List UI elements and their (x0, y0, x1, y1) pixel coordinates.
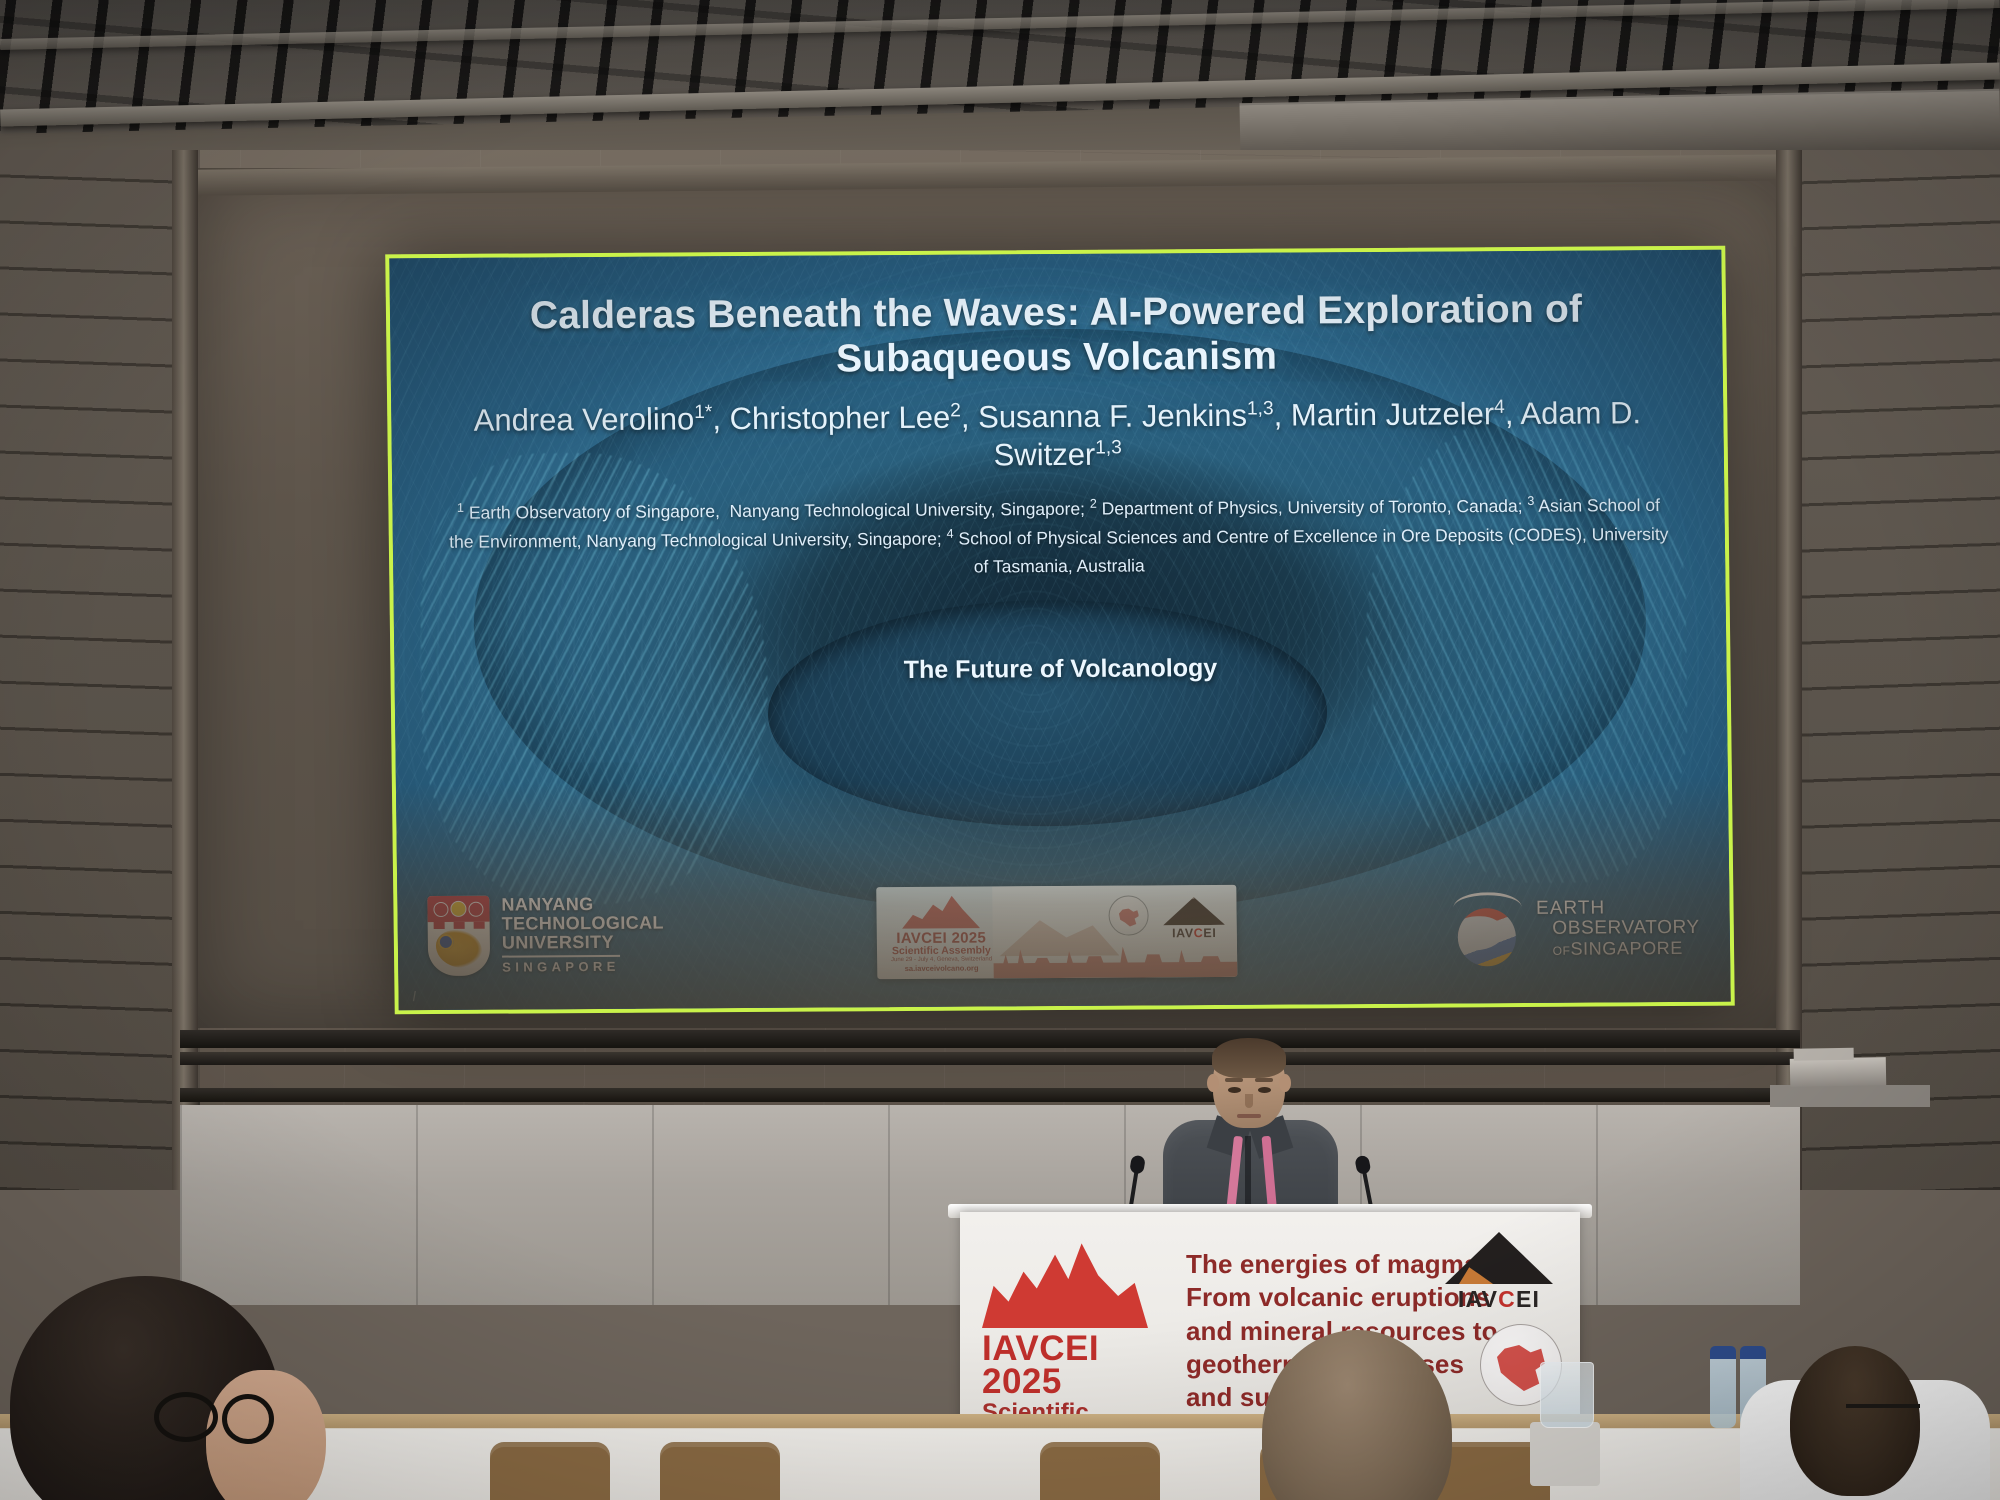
lectern-badge-left: IAV (1458, 1286, 1498, 1312)
presenter-brow-left (1225, 1078, 1243, 1082)
presenter-mouth (1237, 1114, 1261, 1118)
slide-corner-mark: l (412, 988, 415, 1004)
crest-atom-icon-right (468, 902, 483, 917)
volcano-icon-lectern (982, 1234, 1148, 1328)
iavcei-banner-logo: IAVCEI IAVCEI 2025 Scientific Assembly J… (877, 885, 1238, 979)
lectern-logo-title: IAVCEI 2025 (982, 1332, 1172, 1399)
stage-rail-2 (180, 1052, 1800, 1065)
slide-authors: Andrea Verolino1*, Christopher Lee2, Sus… (433, 394, 1682, 478)
eos-circle (1457, 908, 1516, 966)
volcano-icon-badge (1445, 1232, 1553, 1284)
water-glass (1540, 1362, 1594, 1428)
glasses-lens-left (154, 1392, 218, 1442)
iavcei-banner-url: sa.iavceivolcano.org (886, 964, 998, 974)
globe-icon (1109, 895, 1150, 935)
side-table (1770, 1085, 1930, 1107)
right-wall-panels (1800, 150, 2000, 1190)
ntu-line-2: TECHNOLOGICAL (502, 913, 664, 933)
iavcei-badge-right: EI (1203, 926, 1216, 940)
chair-1 (490, 1442, 610, 1500)
ntu-logo: NANYANG TECHNOLOGICAL UNIVERSITY SINGAPO… (427, 894, 664, 976)
lectern-badge-right: EI (1516, 1286, 1540, 1312)
presenter-ear-right (1279, 1074, 1291, 1092)
eos-wordmark: EARTH OBSERVATORY OFSINGAPORE (1536, 898, 1700, 960)
lectern-badge-text: IAVCEI (1434, 1286, 1564, 1313)
ntu-crest-icon (427, 896, 490, 976)
iavcei-banner-subtitle: Scientific Assembly (885, 945, 997, 957)
volcano-icon-banner (902, 892, 980, 929)
presenter-eye-right (1258, 1087, 1271, 1093)
ntu-line-4: SINGAPORE (502, 955, 620, 975)
left-wall-panels (0, 150, 200, 1190)
eos-singapore: SINGAPORE (1570, 938, 1683, 959)
waste-bin (1530, 1422, 1600, 1486)
iavcei-badge-left: IAV (1172, 926, 1194, 940)
ntu-line-3: UNIVERSITY (502, 933, 664, 953)
iavcei-badge: IAVCEI (1163, 897, 1226, 940)
audience-person-right-glasses-icon (1846, 1404, 1920, 1434)
crest-atom-icon-left (433, 902, 448, 917)
presenter-brow-right (1255, 1078, 1273, 1082)
volcano-icon (1163, 897, 1225, 925)
iavcei-badge-accent: C (1194, 926, 1204, 940)
slide-affiliations: 1 Earth Observatory of Singapore, Nanyan… (434, 490, 1683, 585)
lectern-badge-accent: C (1498, 1286, 1516, 1312)
crest-notch-1 (434, 922, 445, 929)
crest-lion-icon (436, 930, 482, 968)
slide-session-title: The Future of Volcanology (436, 651, 1684, 688)
crest-notch-3 (474, 922, 485, 929)
presenter-nose (1245, 1094, 1253, 1108)
stage-rail-1 (180, 1030, 1800, 1048)
ceiling (0, 0, 2000, 175)
iavcei-banner-left: IAVCEI 2025 Scientific Assembly June 29 … (877, 892, 998, 974)
presentation-photo-scene: Calderas Beneath the Waves: AI-Powered E… (0, 0, 2000, 1500)
iavcei-banner-mountain (999, 910, 1120, 957)
laptop (1790, 1057, 1886, 1087)
iavcei-badge-text: IAVCEI (1163, 926, 1225, 940)
chair-3 (1040, 1442, 1160, 1500)
eos-of: OF (1553, 944, 1571, 958)
presenter-eye-left (1228, 1087, 1241, 1093)
eos-line-2: OBSERVATORY (1536, 918, 1700, 940)
presenter-ear-left (1207, 1074, 1219, 1092)
glasses-lens-right (222, 1394, 274, 1444)
ntu-wordmark: NANYANG TECHNOLOGICAL UNIVERSITY SINGAPO… (501, 894, 664, 975)
iavcei-banner-title: IAVCEI 2025 (885, 930, 997, 946)
lectern-badge: IAVCEI (1434, 1232, 1564, 1313)
stage-rail-3 (180, 1088, 1800, 1102)
presenter-hair (1212, 1038, 1286, 1078)
eos-line-1: EARTH (1536, 898, 1700, 920)
crest-notch-2 (454, 922, 465, 929)
eos-mark-icon (1450, 892, 1525, 966)
projected-slide: Calderas Beneath the Waves: AI-Powered E… (385, 246, 1735, 1015)
crest-sun-icon (450, 901, 466, 917)
slide-logo-strip: NANYANG TECHNOLOGICAL UNIVERSITY SINGAPO… (397, 868, 1731, 997)
slide-title: Calderas Beneath the Waves: AI-Powered E… (432, 286, 1681, 385)
audience-person-left-glasses-icon (168, 1392, 288, 1448)
iavcei-banner-sky: IAVCEI (993, 885, 1238, 979)
water-bottle-1 (1710, 1346, 1736, 1428)
chair-2 (660, 1442, 780, 1500)
ntu-line-1: NANYANG (501, 894, 663, 914)
eos-line-3: OFSINGAPORE (1537, 939, 1701, 959)
smoke-plume-icon (1191, 885, 1196, 899)
eos-logo: EARTH OBSERVATORY OFSINGAPORE (1450, 891, 1700, 967)
